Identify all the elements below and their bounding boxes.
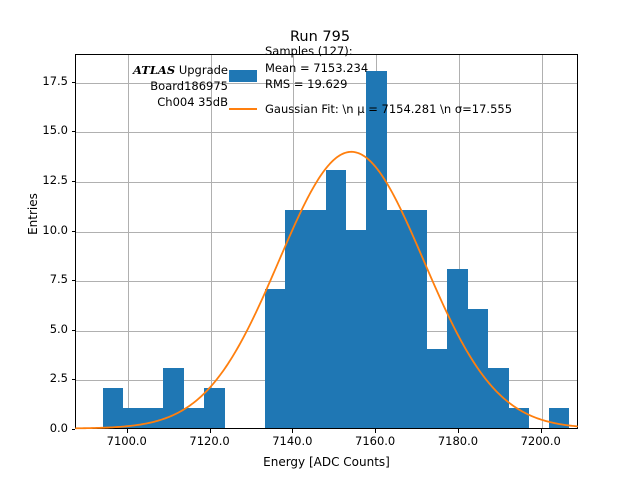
y-tick-mark [72, 82, 76, 83]
y-tick-label: 17.5 [22, 74, 68, 88]
y-tick-label: 2.5 [22, 371, 68, 385]
legend-item-samples: Samples (127): Mean = 7153.234 RMS = 19.… [228, 60, 578, 92]
x-tick-label: 7180.0 [418, 434, 498, 448]
x-tick-mark [210, 429, 211, 433]
x-tick-label: 7140.0 [252, 434, 332, 448]
legend-patch-handle [228, 70, 258, 82]
x-tick-label: 7200.0 [501, 434, 581, 448]
legend-samples-stats: Mean = 7153.234 RMS = 19.629 [265, 60, 368, 92]
x-tick-mark [375, 429, 376, 433]
x-tick-mark [541, 429, 542, 433]
legend-samples-header: Samples (127): [265, 44, 353, 58]
x-tick-label: 7160.0 [335, 434, 415, 448]
y-tick-mark [72, 429, 76, 430]
fit-path [76, 152, 577, 428]
y-tick-mark [72, 231, 76, 232]
board-label: Board186975 [98, 78, 228, 94]
matplotlib-figure: Run 795 7100.07120.07140.07160.07180.072… [0, 0, 640, 480]
y-axis-label: Entries [26, 154, 40, 274]
y-tick-label: 0.0 [22, 421, 68, 435]
x-tick-mark [127, 429, 128, 433]
y-tick-mark [72, 280, 76, 281]
x-tick-mark [292, 429, 293, 433]
y-tick-mark [72, 181, 76, 182]
y-tick-label: 7.5 [22, 272, 68, 286]
legend: Samples (127): Mean = 7153.234 RMS = 19.… [228, 60, 578, 117]
x-tick-label: 7120.0 [170, 434, 250, 448]
atlas-experiment-label: ATLAS [133, 63, 175, 77]
gaussian-swatch [229, 108, 257, 110]
legend-rms: RMS = 19.629 [265, 76, 368, 92]
legend-item-gaussian: Gaussian Fit: \n μ = 7154.281 \n σ=17.55… [228, 101, 578, 117]
legend-gaussian-label: Gaussian Fit: \n μ = 7154.281 \n σ=17.55… [265, 101, 512, 117]
legend-line-handle [228, 103, 258, 115]
y-tick-mark [72, 131, 76, 132]
y-tick-label: 5.0 [22, 322, 68, 336]
atlas-annotation-line1: ATLAS Upgrade [98, 62, 228, 78]
histogram-swatch [229, 70, 257, 82]
page-title: Run 795 [0, 29, 640, 45]
x-axis-label: Energy [ADC Counts] [75, 455, 578, 469]
y-tick-label: 15.0 [22, 123, 68, 137]
legend-mean: Mean = 7153.234 [265, 60, 368, 76]
y-tick-mark [72, 379, 76, 380]
atlas-annotation: ATLAS Upgrade Board186975 Ch004 35dB [98, 62, 228, 110]
atlas-upgrade-suffix: Upgrade [175, 63, 228, 77]
y-tick-mark [72, 330, 76, 331]
channel-label: Ch004 35dB [98, 94, 228, 110]
x-tick-label: 7100.0 [87, 434, 167, 448]
x-tick-mark [458, 429, 459, 433]
